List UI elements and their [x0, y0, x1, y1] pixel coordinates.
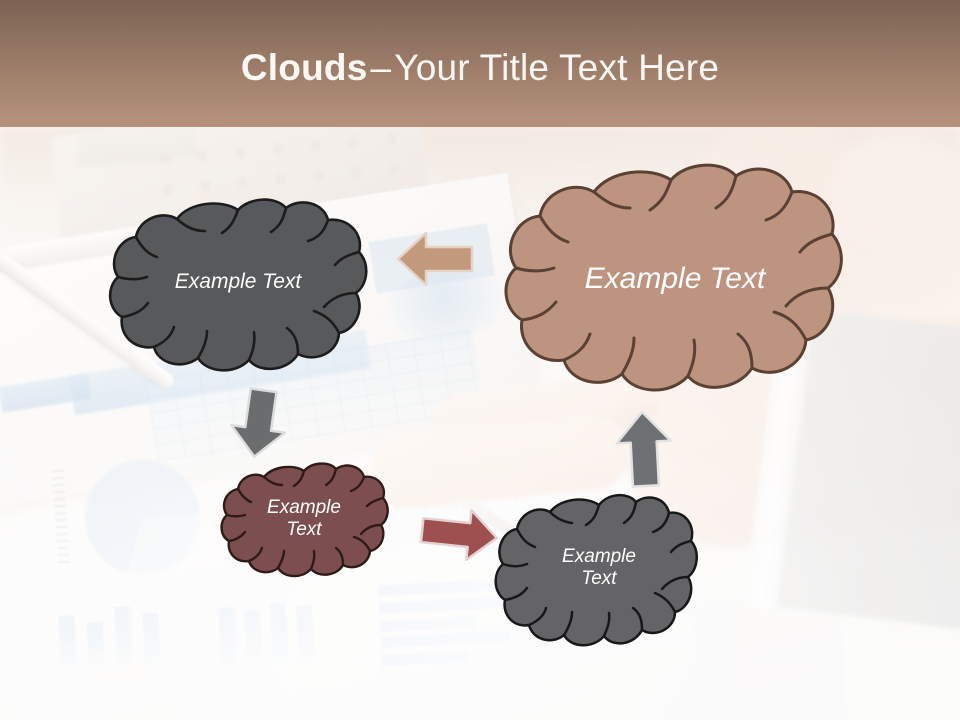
arrow-left-icon[interactable] — [396, 229, 474, 289]
arrow-right-icon[interactable] — [416, 502, 501, 566]
cloud-shape-large-tan[interactable]: Example Text — [498, 160, 844, 398]
title-bar: Clouds – Your Title Text Here — [0, 0, 960, 127]
title-dash: – — [367, 47, 394, 89]
cloud-shape-gray[interactable]: Example Text — [500, 492, 698, 644]
title-bold-part: Clouds — [241, 47, 368, 89]
title-rest-part: Your Title Text Here — [394, 47, 719, 89]
cloud-shape-dark-red[interactable]: Example Text — [220, 461, 388, 577]
arrow-down-icon[interactable] — [223, 383, 294, 463]
arrow-up-icon[interactable] — [611, 407, 677, 490]
page-title: Clouds – Your Title Text Here — [0, 0, 960, 127]
slide-canvas: Clouds – Your Title Text Here — [0, 0, 960, 720]
cloud-shape-dark-gray[interactable]: Example Text — [108, 196, 368, 368]
